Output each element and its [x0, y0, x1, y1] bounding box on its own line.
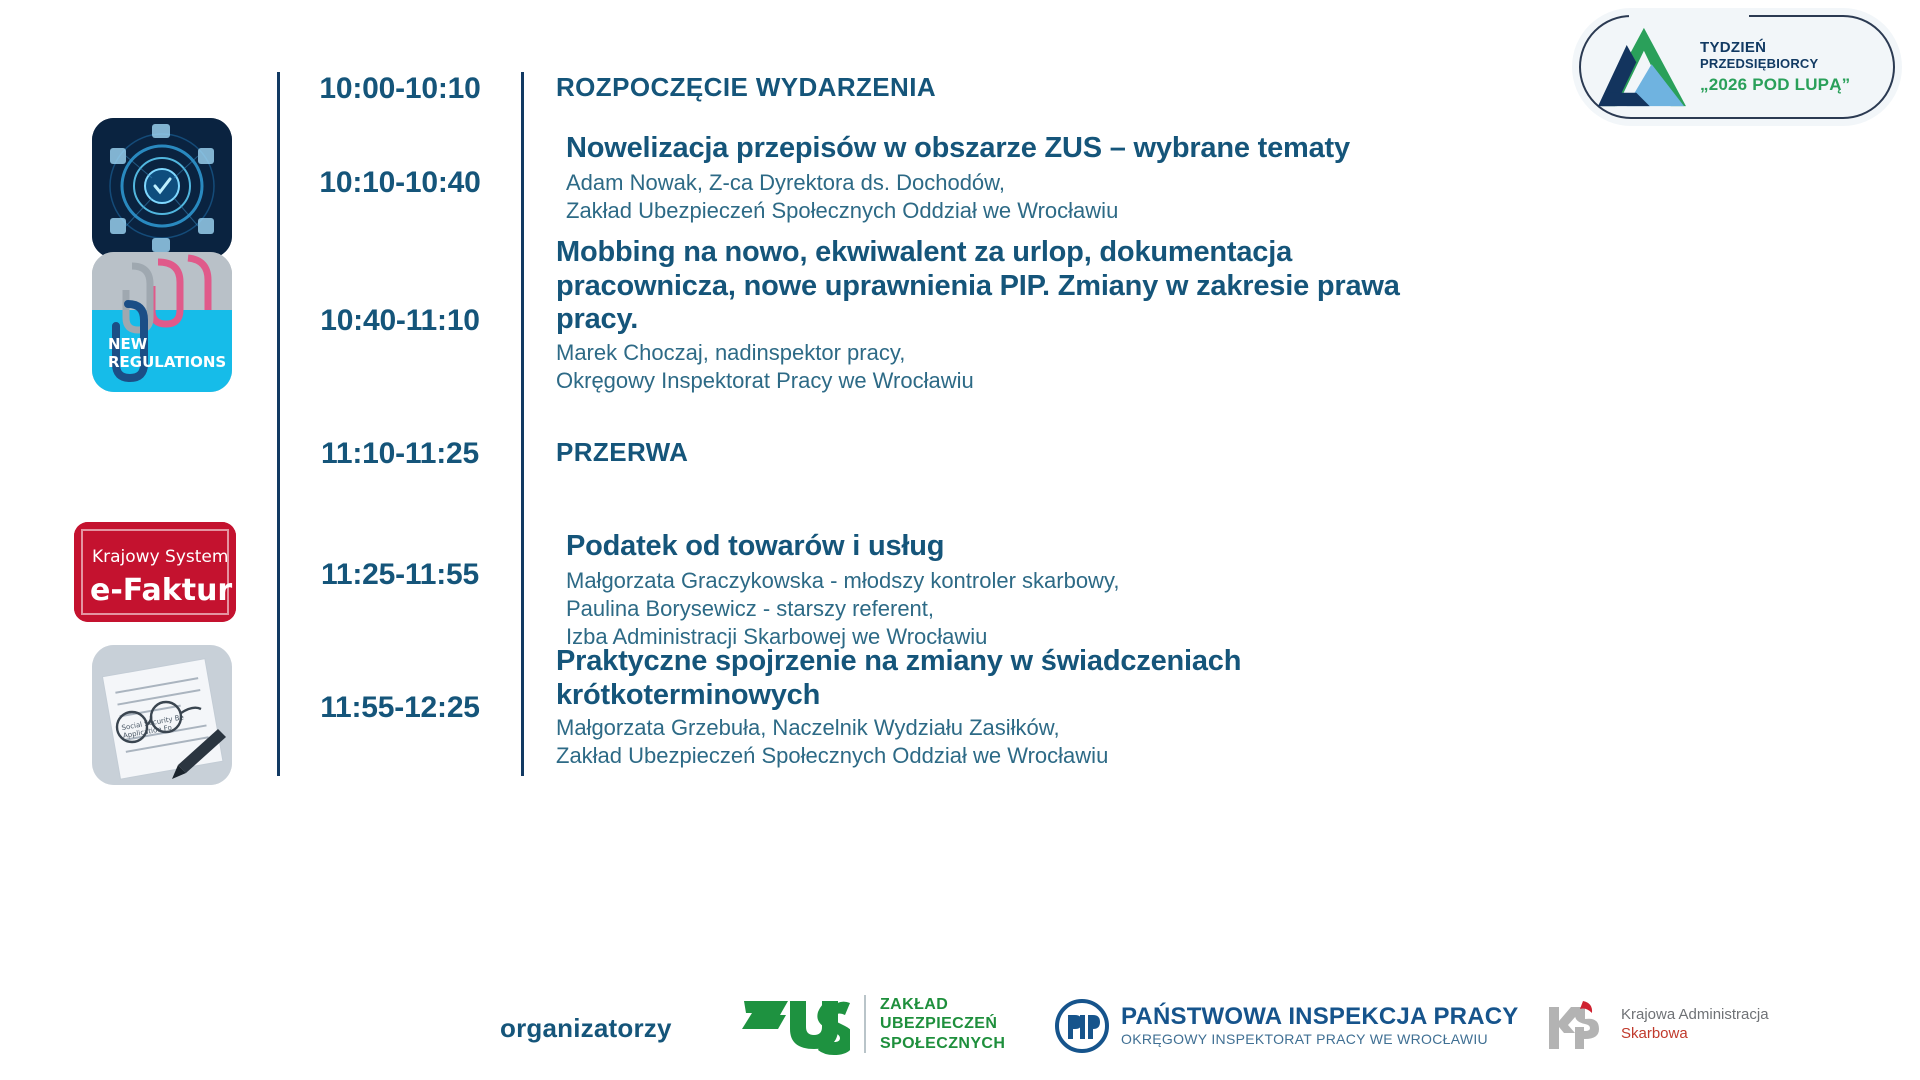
social-security-form-thumbnail: Social Security Be Application Fo: [92, 645, 232, 785]
pip-line-1: PAŃSTWOWA INSPEKCJA PRACY: [1121, 1004, 1518, 1029]
technology-dashboard-thumbnail: [92, 118, 232, 258]
row-speaker: Zakład Ubezpieczeń Społecznych Oddział w…: [556, 742, 1476, 770]
organizers-label: organizatorzy: [500, 1013, 672, 1044]
row-title: Nowelizacja przepisów w obszarze ZUS – w…: [556, 132, 1556, 166]
badge-line-1: TYDZIEŃ: [1700, 40, 1850, 57]
row-time: 11:25-11:55: [290, 558, 510, 592]
row-speaker: Paulina Borysewicz - starszy referent,: [556, 595, 1556, 623]
row-title: PRZERWA: [556, 437, 1556, 467]
row-speaker: Okręgowy Inspektorat Pracy we Wrocławiu: [556, 367, 1456, 395]
thumb-regulations-line1: NEW: [108, 335, 148, 353]
footer: organizatorzy ZAKŁAD UBEZPIECZEŃ SPOŁECZ…: [0, 985, 1920, 1080]
badge-line-3: „2026 POD LUPĄ”: [1700, 75, 1850, 94]
zus-logo: ZAKŁAD UBEZPIECZEŃ SPOŁECZNYCH: [740, 993, 1005, 1055]
row-title: Podatek od towarów i usług: [556, 530, 1556, 564]
zus-line-1: ZAKŁAD: [880, 995, 1005, 1015]
row-time: 10:40-11:10: [290, 304, 510, 338]
kas-line-2: Skarbowa: [1621, 1025, 1769, 1044]
zus-divider: [864, 995, 866, 1053]
row-speaker: Małgorzata Grzebuła, Naczelnik Wydziału …: [556, 714, 1476, 742]
row-title: Mobbing na nowo, ekwiwalent za urlop, do…: [556, 236, 1456, 337]
row-speaker: Małgorzata Graczykowska - młodszy kontro…: [556, 567, 1556, 595]
row-title: ROZPOCZĘCIE WYDARZENIA: [556, 72, 1556, 102]
row-speaker: Marek Choczaj, nadinspektor pracy,: [556, 339, 1456, 367]
new-regulations-thumbnail: NEW REGULATIONS: [92, 252, 232, 392]
ksef-efaktur-thumbnail: Krajowy System e-Faktur: [74, 522, 236, 622]
pip-line-2: OKRĘGOWY INSPEKTORAT PRACY WE WROCŁAWIU: [1121, 1031, 1518, 1048]
row-title: Praktyczne spojrzenie na zmiany w świadc…: [556, 645, 1476, 712]
thumb-ksef-line2: e-Faktur: [90, 573, 232, 608]
row-speaker: Adam Nowak, Z-ca Dyrektora ds. Dochodów,: [556, 169, 1556, 197]
zus-line-2: UBEZPIECZEŃ: [880, 1014, 1005, 1034]
divider-left: [277, 72, 280, 776]
badge-line-2: PRZEDSIĘBIORCY: [1700, 57, 1850, 72]
row-time: 11:55-12:25: [290, 691, 510, 725]
agenda-slide: TYDZIEŃ PRZEDSIĘBIORCY „2026 POD LUPĄ” 1…: [0, 0, 1920, 1080]
pip-logo: PAŃSTWOWA INSPEKCJA PRACY OKRĘGOWY INSPE…: [1055, 999, 1518, 1053]
thumb-ksef-line1: Krajowy System: [92, 547, 228, 567]
row-speaker: Zakład Ubezpieczeń Społecznych Oddział w…: [556, 197, 1556, 225]
event-badge: TYDZIEŃ PRZEDSIĘBIORCY „2026 POD LUPĄ”: [1572, 8, 1902, 126]
row-time: 11:10-11:25: [290, 437, 510, 471]
kas-mark-icon: [1545, 997, 1611, 1053]
kas-logo: Krajowa Administracja Skarbowa: [1545, 997, 1769, 1053]
zus-mark-icon: [740, 993, 850, 1055]
triangle-logo-icon: [1594, 24, 1690, 110]
kas-line-1: Krajowa Administracja: [1621, 1006, 1769, 1025]
row-time: 10:00-10:10: [290, 72, 510, 106]
zus-line-3: SPOŁECZNYCH: [880, 1034, 1005, 1054]
row-time: 10:10-10:40: [290, 166, 510, 200]
pip-mark-icon: [1055, 999, 1109, 1053]
thumb-regulations-line2: REGULATIONS: [108, 353, 226, 371]
divider-right: [521, 72, 524, 776]
